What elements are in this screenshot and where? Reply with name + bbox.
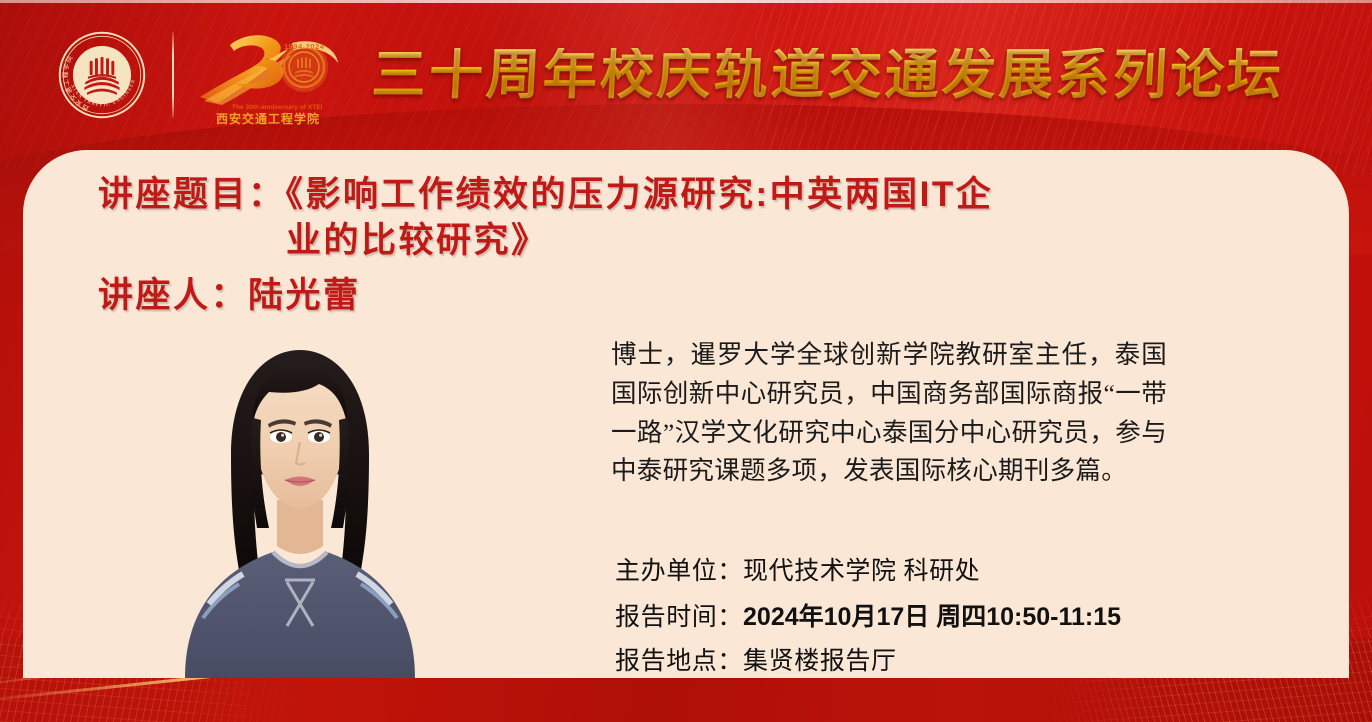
venue-value: 集贤楼报告厅 [743,648,897,675]
lecture-speaker-line: 讲座人：陆光蕾 [98,273,1309,319]
svg-text:The 30th anniversary of XTEI: The 30th anniversary of XTEI [232,104,323,111]
lecture-title-text-1: 《影响工作绩效的压力源研究:中英两国IT企 [286,175,994,214]
event-details: 主办单位：现代技术学院 科研处 报告时间：2024年10月17日 周四10:50… [615,550,1121,678]
organizer-label: 主办单位： [615,558,743,585]
event-poster: 西安交通工程学院 XIAN TRAFFIC ENGINEERING INSTIT… [0,0,1372,722]
lecture-heading-block: 讲座题目：《影响工作绩效的压力源研究:中英两国IT企 业的比较研究》 讲座人：陆… [98,172,1309,320]
lecture-title-line-2: 业的比较研究》 [98,218,1309,264]
speaker-name: 陆光蕾 [248,276,361,315]
detail-venue: 报告地点：集贤楼报告厅 [615,640,1121,678]
content-panel: 讲座题目：《影响工作绩效的压力源研究:中英两国IT企 业的比较研究》 讲座人：陆… [23,150,1349,678]
speaker-portrait-photo [169,332,431,678]
university-seal-icon: 西安交通工程学院 XIAN TRAFFIC ENGINEERING INSTIT… [58,31,146,119]
organizer-value: 现代技术学院 科研处 [743,558,980,585]
svg-text:西安交通工程学院: 西安交通工程学院 [216,111,320,126]
poster-header: 西安交通工程学院 XIAN TRAFFIC ENGINEERING INSTIT… [0,0,1372,150]
svg-text:1994-2024: 1994-2024 [284,42,325,51]
speaker-label: 讲座人： [98,276,248,315]
detail-organizer: 主办单位：现代技术学院 科研处 [615,550,1121,595]
venue-label: 报告地点： [615,648,743,675]
time-label: 报告时间： [615,604,743,631]
detail-time: 报告时间：2024年10月17日 周四10:50-11:15 [615,595,1121,641]
lecture-title-line-1: 讲座题目：《影响工作绩效的压力源研究:中英两国IT企 [98,172,1309,218]
banner-title: 三十周年校庆轨道交通发展系列论坛 [371,48,1286,102]
header-divider [172,32,174,118]
time-value: 2024年10月17日 周四10:50-11:15 [743,603,1121,631]
lecture-title-label: 讲座题目： [98,175,286,214]
speaker-bio: 博士，暹罗大学全球创新学院教研室主任，泰国国际创新中心研究员，中国商务部国际商报… [611,336,1167,491]
anniversary-logo-icon: 1994-2024 The 30th anniversary of XTEI 西… [196,23,346,127]
